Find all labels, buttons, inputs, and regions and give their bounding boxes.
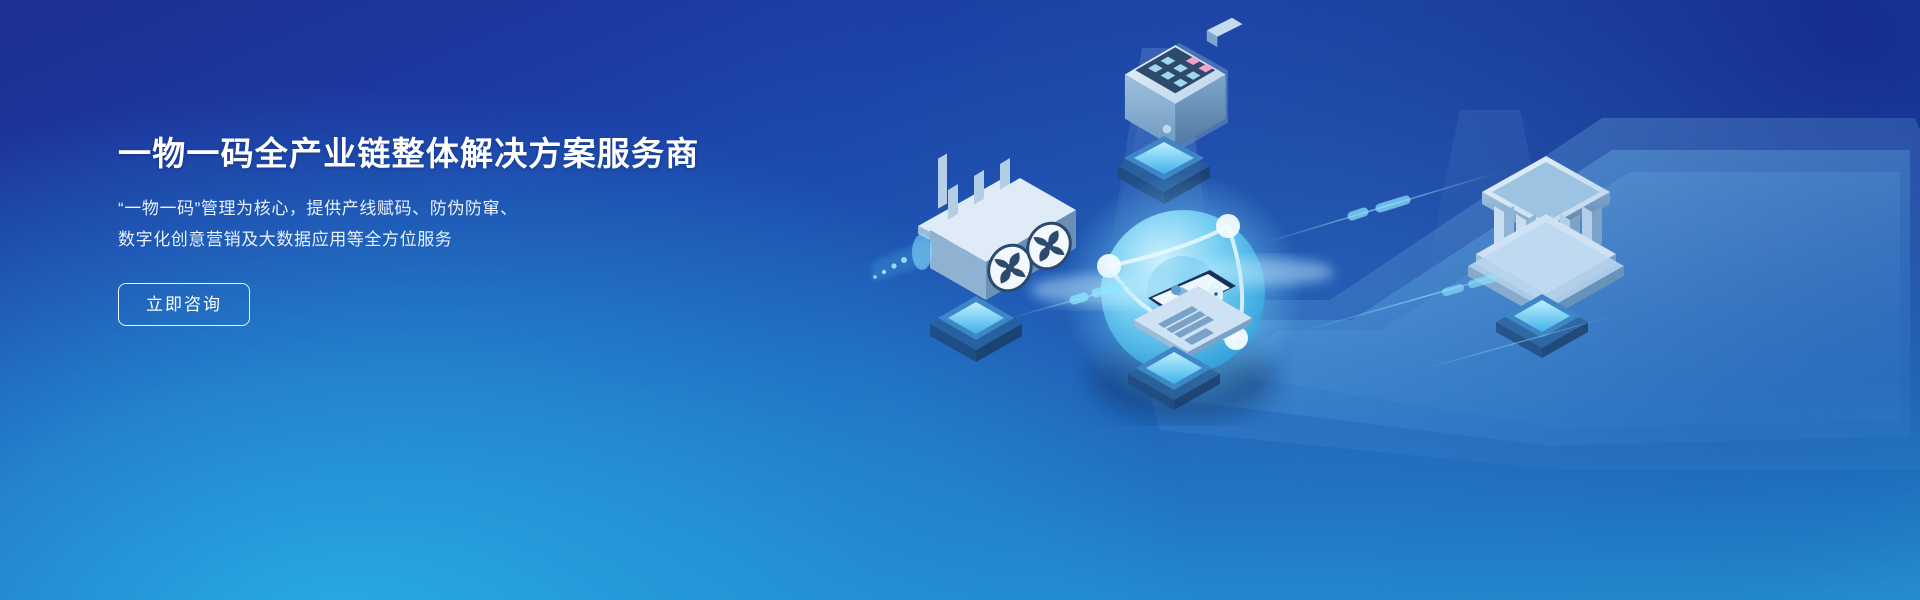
scanner-beam <box>872 234 932 282</box>
page-title: 一物一码全产业链整体解决方案服务商 <box>118 132 738 176</box>
hero-subtitle: “一物一码”管理为核心，提供产线赋码、防伪防窜、 数字化创意营销及大数据应用等全… <box>118 193 738 255</box>
consult-now-button[interactable]: 立即咨询 <box>118 283 250 326</box>
hero-subtitle-line-1: “一物一码”管理为核心，提供产线赋码、防伪防窜、 <box>118 193 738 224</box>
hero-copy: 一物一码全产业链整体解决方案服务商 “一物一码”管理为核心，提供产线赋码、防伪防… <box>118 132 738 326</box>
server-fan-unit <box>872 153 1081 300</box>
hero-banner: 一物一码全产业链整体解决方案服务商 “一物一码”管理为核心，提供产线赋码、防伪防… <box>0 0 1920 600</box>
hero-subtitle-line-2: 数字化创意营销及大数据应用等全方位服务 <box>118 224 738 255</box>
hero-illustration <box>860 0 1920 600</box>
pedestal-pad-server <box>930 296 1022 362</box>
